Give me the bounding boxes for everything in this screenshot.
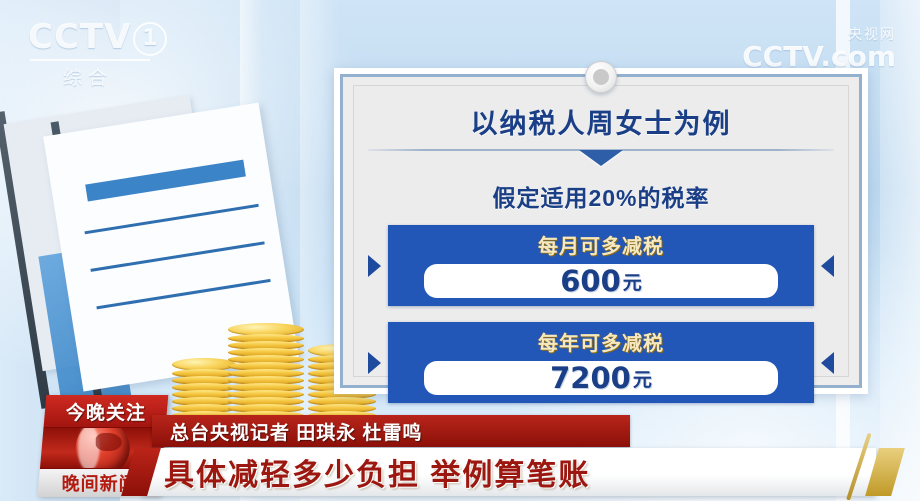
cctv1-logo-number: 1 bbox=[133, 22, 167, 56]
arrow-left-icon bbox=[821, 255, 834, 277]
info-panel-inner: 以纳税人周女士为例 假定适用20%的税率 每月可多减税 600 元 bbox=[353, 85, 849, 377]
program-logo-top-label: 今晚关注 bbox=[66, 398, 146, 425]
cctv1-logo-rule bbox=[30, 59, 150, 61]
arrow-right-icon bbox=[368, 352, 381, 374]
headline-bar: 具体减轻多少负担 举例算笔账 bbox=[142, 448, 876, 496]
stat-unit-monthly: 元 bbox=[623, 268, 642, 295]
arrow-right-icon bbox=[368, 255, 381, 277]
stat-label-monthly: 每月可多减税 bbox=[388, 230, 814, 259]
stat-row-yearly: 每年可多减税 7200 元 bbox=[370, 322, 832, 403]
reporter-credit: 总台央视记者 田琪永 杜雷鸣 bbox=[170, 418, 423, 445]
cctv1-logo-icon: CCTV1 综合 bbox=[28, 20, 178, 84]
broadcast-frame: CCTV1 综合 央视网 CCTV.com bbox=[0, 0, 920, 501]
lower-third: 今晚关注 晚间新闻 总台央视记者 田琪永 杜雷鸣 具体减轻多少负担 举例算笔账 bbox=[0, 395, 920, 501]
stat-label-yearly: 每年可多减税 bbox=[388, 327, 814, 356]
stat-value-pill-yearly: 7200 元 bbox=[424, 361, 778, 395]
cctv1-logo-mark: CCTV bbox=[28, 17, 131, 57]
cctv-com-logo-site: CCTV.com bbox=[716, 44, 896, 70]
stat-row-monthly: 每月可多减税 600 元 bbox=[370, 225, 832, 306]
stat-value-yearly: 7200 bbox=[550, 361, 631, 395]
reporter-bar: 总台央视记者 田琪永 杜雷鸣 bbox=[152, 415, 630, 447]
stat-card-monthly: 每月可多减税 600 元 bbox=[388, 225, 814, 306]
globe-icon bbox=[76, 428, 130, 468]
document-heading-bar bbox=[85, 160, 246, 202]
gold-pointer-icon bbox=[846, 433, 871, 501]
headline-text: 具体减轻多少负担 举例算笔账 bbox=[164, 450, 590, 494]
document-text-line bbox=[90, 241, 264, 271]
stat-value-pill-monthly: 600 元 bbox=[424, 264, 778, 298]
document-text-line bbox=[84, 204, 258, 234]
info-panel-frame: 以纳税人周女士为例 假定适用20%的税率 每月可多减税 600 元 bbox=[340, 74, 862, 388]
stat-unit-yearly: 元 bbox=[633, 365, 652, 392]
panel-subtitle: 假定适用20%的税率 bbox=[354, 179, 848, 213]
stat-card-yearly: 每年可多减税 7200 元 bbox=[388, 322, 814, 403]
arrow-left-icon bbox=[821, 352, 834, 374]
cctv1-logo-sub: 综合 bbox=[28, 63, 148, 90]
panel-knob-icon bbox=[585, 61, 617, 93]
cctv-com-logo-icon: 央视网 CCTV.com bbox=[716, 22, 896, 74]
program-logo-top: 今晚关注 bbox=[43, 395, 168, 428]
info-panel: 以纳税人周女士为例 假定适用20%的税率 每月可多减税 600 元 bbox=[334, 68, 868, 394]
panel-title: 以纳税人周女士为例 bbox=[354, 102, 848, 141]
stat-value-monthly: 600 bbox=[560, 264, 621, 298]
chevron-down-icon bbox=[579, 150, 623, 166]
